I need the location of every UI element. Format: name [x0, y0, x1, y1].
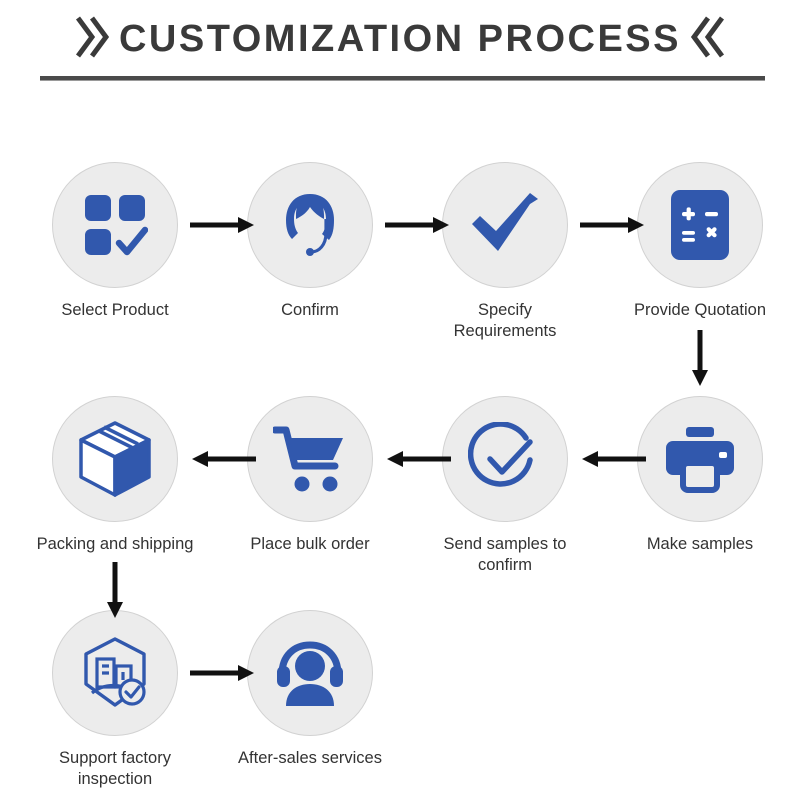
- shopping-cart-icon: [273, 424, 347, 494]
- flow-step-provide-quotation[interactable]: Provide Quotation: [620, 162, 780, 321]
- arrow-left-icon: [580, 448, 646, 470]
- flow-step-place-bulk-order[interactable]: Place bulk order: [230, 396, 390, 555]
- calculator-icon: [669, 188, 731, 262]
- flow-step-label: Provide Quotation: [620, 300, 780, 321]
- chevron-double-left-icon: [691, 14, 725, 65]
- arrow-down-icon: [104, 562, 126, 620]
- flow-step-packing-and-shipping[interactable]: Packing and shipping: [35, 396, 195, 555]
- icon-circle: [247, 610, 373, 736]
- arrow-right-icon: [580, 214, 646, 236]
- arrow-right-icon: [190, 662, 256, 684]
- flow-step-label: After-sales services: [230, 748, 390, 769]
- grid-squares-check-icon: [82, 192, 148, 258]
- chevron-double-right-icon: [75, 14, 109, 65]
- icon-circle: [247, 162, 373, 288]
- support-agent-headset-icon: [274, 189, 346, 261]
- title-divider: [40, 76, 765, 81]
- headset-person-icon: [273, 640, 347, 706]
- flow-step-label: Specify Requirements: [425, 300, 585, 342]
- checkmark-icon: [468, 190, 542, 260]
- flow-step-specify-requirements[interactable]: Specify Requirements: [425, 162, 585, 342]
- flow-step-label: Make samples: [620, 534, 780, 555]
- circle-check-icon: [468, 422, 542, 496]
- flow-step-label: Support factory inspection: [35, 748, 195, 790]
- factory-quality-badge-icon: [78, 635, 152, 711]
- arrow-left-icon: [385, 448, 451, 470]
- arrow-down-icon: [689, 330, 711, 388]
- icon-circle: [442, 396, 568, 522]
- icon-circle: [52, 610, 178, 736]
- page-header: CUSTOMIZATION PROCESS: [0, 0, 800, 96]
- arrow-left-icon: [190, 448, 256, 470]
- arrow-right-icon: [385, 214, 451, 236]
- icon-circle: [247, 396, 373, 522]
- arrow-right-icon: [190, 214, 256, 236]
- printer-icon: [663, 425, 737, 493]
- icon-circle: [637, 162, 763, 288]
- icon-circle: [637, 396, 763, 522]
- flow-step-send-samples-to-confirm[interactable]: Send samples to confirm: [425, 396, 585, 576]
- flow-step-make-samples[interactable]: Make samples: [620, 396, 780, 555]
- flow-step-confirm[interactable]: Confirm: [230, 162, 390, 321]
- package-box-icon: [77, 420, 153, 498]
- flow-step-label: Place bulk order: [230, 534, 390, 555]
- flow-step-select-product[interactable]: Select Product: [35, 162, 195, 321]
- icon-circle: [52, 162, 178, 288]
- icon-circle: [52, 396, 178, 522]
- flow-step-support-factory-inspection[interactable]: Support factory inspection: [35, 610, 195, 790]
- page-title: CUSTOMIZATION PROCESS: [119, 18, 681, 61]
- flow-step-label: Packing and shipping: [35, 534, 195, 555]
- flow-step-label: Confirm: [230, 300, 390, 321]
- flow-step-label: Send samples to confirm: [425, 534, 585, 576]
- flow-step-after-sales-services[interactable]: After-sales services: [230, 610, 390, 769]
- icon-circle: [442, 162, 568, 288]
- title-row: CUSTOMIZATION PROCESS: [0, 8, 800, 70]
- flow-step-label: Select Product: [35, 300, 195, 321]
